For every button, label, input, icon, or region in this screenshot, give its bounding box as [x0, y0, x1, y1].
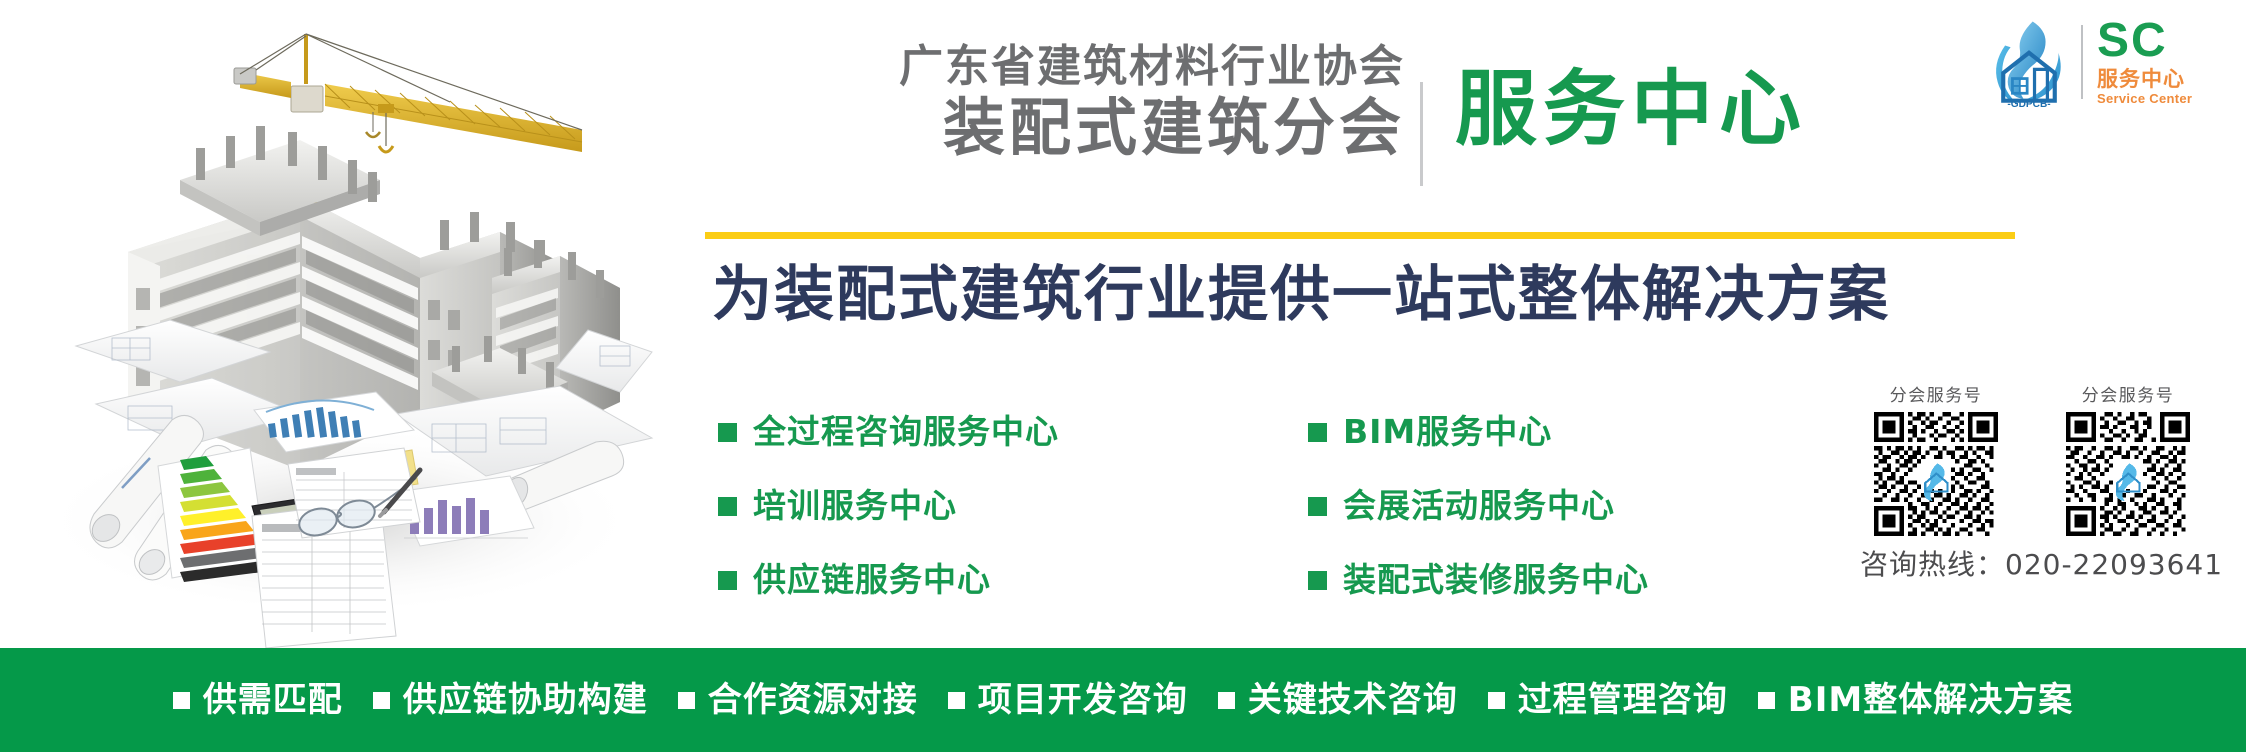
title-vertical-divider — [1420, 82, 1423, 186]
service-center-heading: 服务中心 — [1455, 62, 1807, 158]
list-item[interactable]: 全过程咨询服务中心 — [718, 410, 1128, 454]
capability-label: 合作资源对接 — [708, 680, 918, 720]
qr-row: 分会服务号 — [1838, 385, 2238, 536]
service-center-lists: 全过程咨询服务中心 培训服务中心 供应链服务中心 BIM服务中心 会展活动服务中… — [718, 410, 1818, 602]
association-title: 广东省建筑材料行业协会 装配式建筑分会 — [705, 42, 1405, 162]
square-bullet-icon — [948, 692, 965, 709]
qr-cell: 分会服务号 — [1862, 385, 2010, 536]
qr-contact-block: 分会服务号 — [1838, 385, 2238, 582]
list-item[interactable]: 供应链协助构建 — [373, 680, 648, 720]
construction-site-3d-render — [0, 0, 690, 648]
service-label: 装配式装修服务中心 — [1343, 560, 1649, 600]
construction-illustration — [0, 0, 690, 648]
square-bullet-icon — [1758, 692, 1775, 709]
hotline-text: 咨询热线：020-22093641 — [1838, 548, 2238, 582]
capability-label: 关键技术咨询 — [1248, 680, 1458, 720]
square-bullet-icon — [1308, 497, 1327, 516]
square-bullet-icon — [173, 692, 190, 709]
qr-code-icon[interactable] — [1868, 412, 2004, 536]
list-item[interactable]: 合作资源对接 — [678, 680, 918, 720]
service-label: 全过程咨询服务中心 — [753, 412, 1059, 452]
sc-chinese-label: 服务中心 — [2097, 67, 2192, 91]
list-item[interactable]: 装配式装修服务中心 — [1308, 558, 1728, 602]
service-label: BIM服务中心 — [1343, 412, 1552, 452]
capability-label: 过程管理咨询 — [1518, 680, 1728, 720]
service-label: 培训服务中心 — [753, 486, 957, 526]
sc-letters: SC — [2097, 18, 2192, 64]
qr-cell: 分会服务号 — [2054, 385, 2202, 536]
bottom-capability-bar: 供需匹配 供应链协助构建 合作资源对接 项目开发咨询 关键技术咨询 过程管理咨询… — [0, 648, 2246, 752]
square-bullet-icon — [373, 692, 390, 709]
capability-label: 项目开发咨询 — [978, 680, 1188, 720]
list-item[interactable]: 项目开发咨询 — [948, 680, 1188, 720]
gdpcb-house-flame-icon: -GDPCB- — [1983, 16, 2075, 108]
bottom-bar-items: 供需匹配 供应链协助构建 合作资源对接 项目开发咨询 关键技术咨询 过程管理咨询… — [173, 680, 2073, 720]
sc-english-label: Service Center — [2097, 91, 2192, 106]
qr-caption: 分会服务号 — [1862, 385, 2010, 407]
gold-divider-rule — [705, 232, 2015, 239]
page-subtitle: 为装配式建筑行业提供一站式整体解决方案 — [712, 258, 1890, 332]
service-list-left: 全过程咨询服务中心 培训服务中心 供应链服务中心 — [718, 410, 1128, 602]
qr-code-icon[interactable] — [2060, 412, 2196, 536]
service-label: 供应链服务中心 — [753, 560, 991, 600]
square-bullet-icon — [718, 423, 737, 442]
service-list-right: BIM服务中心 会展活动服务中心 装配式装修服务中心 — [1308, 410, 1728, 602]
square-bullet-icon — [718, 571, 737, 590]
association-name-line1: 广东省建筑材料行业协会 — [705, 42, 1405, 92]
logo-divider — [2081, 25, 2083, 99]
square-bullet-icon — [1308, 571, 1327, 590]
list-item[interactable]: 供需匹配 — [173, 680, 343, 720]
sc-brand-block: SC 服务中心 Service Center — [2097, 18, 2192, 106]
capability-label: 供需匹配 — [203, 680, 343, 720]
list-item[interactable]: BIM整体解决方案 — [1758, 680, 2073, 720]
association-name-line2: 装配式建筑分会 — [705, 94, 1405, 162]
list-item[interactable]: 过程管理咨询 — [1488, 680, 1728, 720]
square-bullet-icon — [1308, 423, 1327, 442]
brand-logo[interactable]: -GDPCB- SC 服务中心 Service Center — [1983, 14, 2233, 110]
qr-caption: 分会服务号 — [2054, 385, 2202, 407]
logo-mark-text: -GDPCB- — [2007, 99, 2050, 108]
list-item[interactable]: 培训服务中心 — [718, 484, 1128, 528]
list-item[interactable]: 供应链服务中心 — [718, 558, 1128, 602]
square-bullet-icon — [718, 497, 737, 516]
square-bullet-icon — [1488, 692, 1505, 709]
list-item[interactable]: 会展活动服务中心 — [1308, 484, 1728, 528]
capability-label: BIM整体解决方案 — [1788, 680, 2073, 720]
list-item[interactable]: 关键技术咨询 — [1218, 680, 1458, 720]
capability-label: 供应链协助构建 — [403, 680, 648, 720]
square-bullet-icon — [678, 692, 695, 709]
service-label: 会展活动服务中心 — [1343, 486, 1615, 526]
square-bullet-icon — [1218, 692, 1235, 709]
list-item[interactable]: BIM服务中心 — [1308, 410, 1728, 454]
